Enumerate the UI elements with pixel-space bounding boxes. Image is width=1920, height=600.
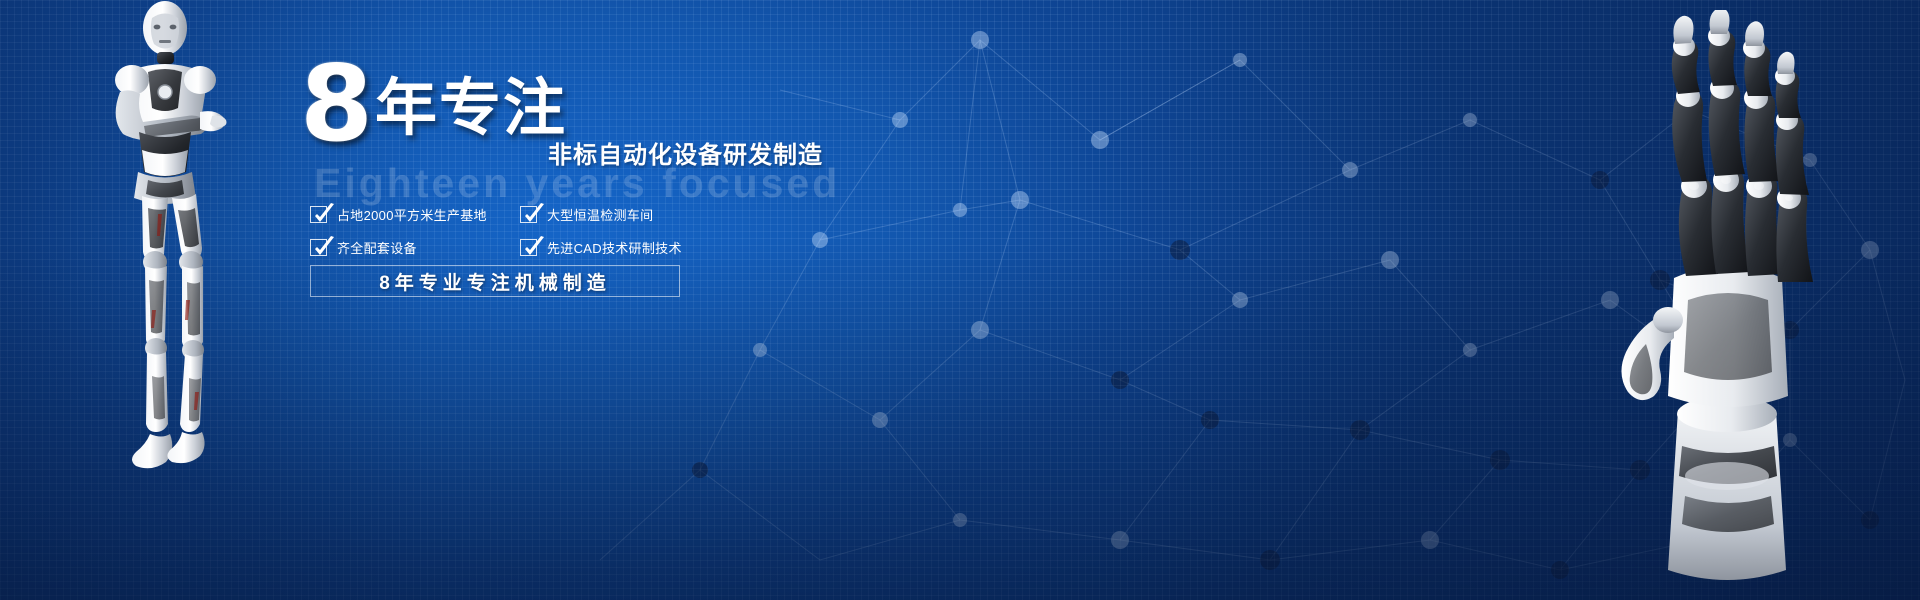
check-icon xyxy=(310,206,327,223)
feature-list: 占地2000平方米生产基地 大型恒温检测车间 齐全配套设备 xyxy=(310,205,810,271)
headline-number: 8 xyxy=(300,52,373,157)
check-icon xyxy=(520,239,537,256)
feature-item: 占地2000平方米生产基地 xyxy=(310,205,520,224)
banner-content: 8 年专注 非标自动化设备研发制造 Eighteen years focused… xyxy=(300,60,1120,360)
robotic-hand-image xyxy=(1570,10,1900,590)
feature-item: 大型恒温检测车间 xyxy=(520,205,730,224)
ghost-english-text: Eighteen years focused xyxy=(314,160,840,207)
feature-row: 占地2000平方米生产基地 大型恒温检测车间 xyxy=(310,205,810,224)
slogan-text: 8年专业专注机械制造 xyxy=(379,268,611,295)
feature-item: 齐全配套设备 xyxy=(310,238,520,257)
humanoid-robot-image xyxy=(60,0,290,490)
feature-label: 占地2000平方米生产基地 xyxy=(337,205,487,224)
check-icon xyxy=(520,206,537,223)
feature-item: 先进CAD技术研制技术 xyxy=(520,238,730,257)
check-icon xyxy=(310,239,327,256)
feature-row: 齐全配套设备 先进CAD技术研制技术 xyxy=(310,238,810,257)
feature-label: 齐全配套设备 xyxy=(337,238,417,257)
feature-label: 先进CAD技术研制技术 xyxy=(547,238,682,257)
promo-banner: 8 年专注 非标自动化设备研发制造 Eighteen years focused… xyxy=(0,0,1920,600)
slogan-box: 8年专业专注机械制造 xyxy=(310,265,680,297)
feature-label: 大型恒温检测车间 xyxy=(547,205,653,224)
headline-text: 年专注 xyxy=(375,78,567,140)
headline-group: 8 年专注 非标自动化设备研发制造 xyxy=(300,60,1120,146)
